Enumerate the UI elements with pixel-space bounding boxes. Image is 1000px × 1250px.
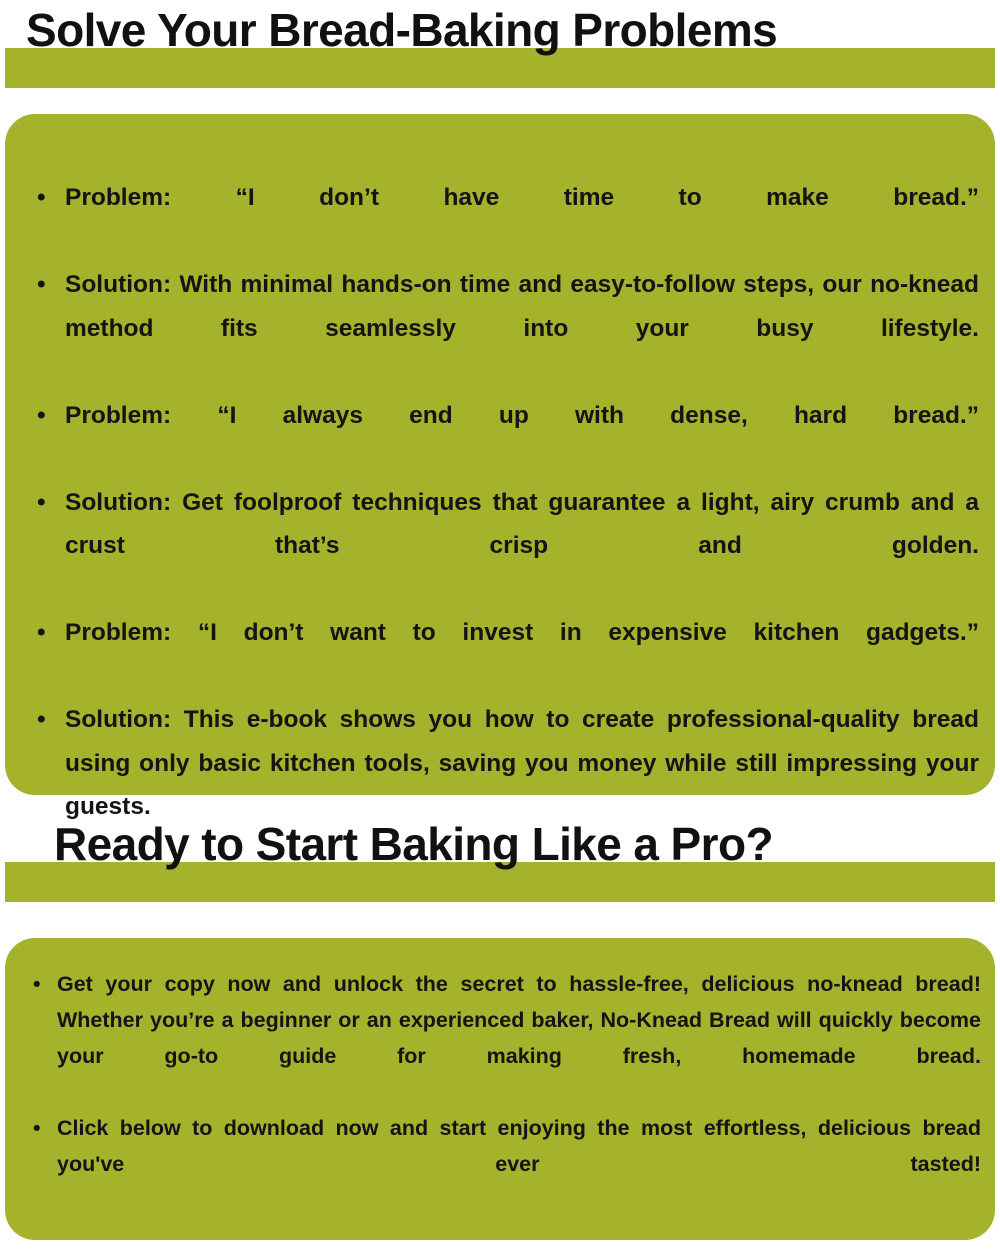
section-heading-problems: Solve Your Bread-Baking Problems: [0, 0, 1000, 114]
bullet-icon: •: [33, 1110, 41, 1146]
list-item-text: Solution: Get foolproof techniques that …: [65, 481, 979, 612]
problems-solutions-panel: • Problem: “I don’t have time to make br…: [5, 114, 995, 795]
page-canvas: Solve Your Bread-Baking Problems • Probl…: [0, 0, 1000, 1250]
problems-bullet-list: • Problem: “I don’t have time to make br…: [21, 176, 979, 872]
list-item-text: Get your copy now and unlock the secret …: [57, 966, 981, 1110]
cta-bullet-list: • Get your copy now and unlock the secre…: [19, 966, 981, 1218]
list-item: • Problem: “I always end up with dense, …: [21, 394, 979, 481]
list-item: • Solution: Get foolproof techniques tha…: [21, 481, 979, 612]
section-heading-cta: Ready to Start Baking Like a Pro?: [0, 812, 1000, 938]
list-item-text: Solution: With minimal hands-on time and…: [65, 263, 979, 394]
page-title: Solve Your Bread-Baking Problems: [0, 4, 1000, 56]
bullet-icon: •: [37, 176, 46, 220]
bullet-icon: •: [37, 263, 46, 307]
list-item-text: Problem: “I always end up with dense, ha…: [65, 394, 979, 481]
call-to-action-panel: • Get your copy now and unlock the secre…: [5, 938, 995, 1240]
list-item: • Problem: “I don’t have time to make br…: [21, 176, 979, 263]
section-title: Ready to Start Baking Like a Pro?: [0, 818, 1000, 870]
bullet-icon: •: [37, 611, 46, 655]
list-item-text: Click below to download now and start en…: [57, 1110, 981, 1218]
bullet-icon: •: [37, 394, 46, 438]
bullet-icon: •: [37, 481, 46, 525]
list-item: • Problem: “I don’t want to invest in ex…: [21, 611, 979, 698]
list-item-text: Problem: “I don’t have time to make brea…: [65, 176, 979, 263]
list-item: • Solution: With minimal hands-on time a…: [21, 263, 979, 394]
list-item: • Click below to download now and start …: [19, 1110, 981, 1218]
bullet-icon: •: [33, 966, 41, 1002]
list-item-text: Problem: “I don’t want to invest in expe…: [65, 611, 979, 698]
bullet-icon: •: [37, 698, 46, 742]
list-item: • Get your copy now and unlock the secre…: [19, 966, 981, 1110]
